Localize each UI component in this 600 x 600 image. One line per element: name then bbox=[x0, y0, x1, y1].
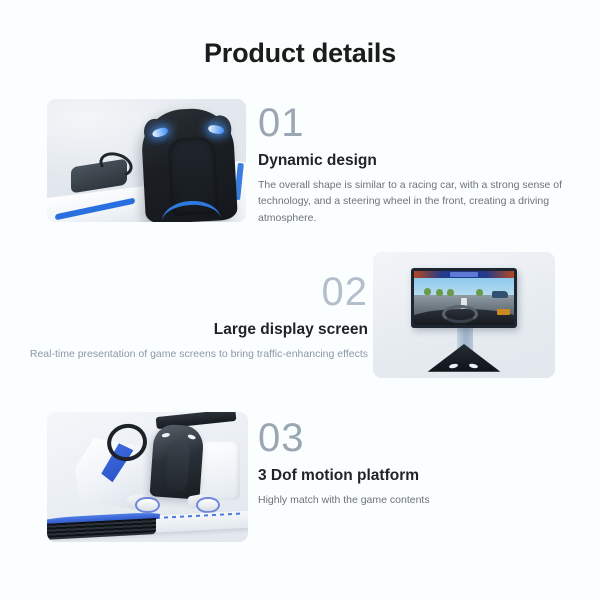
seat-led-right bbox=[187, 433, 196, 439]
motion-actuator bbox=[196, 497, 220, 514]
game-hud-right bbox=[497, 309, 510, 315]
section-1-text: 01 Dynamic design The overall shape is s… bbox=[258, 103, 578, 226]
section-1-heading: Dynamic design bbox=[258, 152, 578, 170]
page-title: Product details bbox=[0, 38, 600, 69]
section-3-heading: 3 Dof motion platform bbox=[258, 467, 578, 485]
section-3-body: Highly match with the game contents bbox=[258, 492, 578, 508]
section-3-number: 03 bbox=[258, 418, 578, 458]
game-steering-wheel bbox=[442, 305, 478, 323]
product-details-page: Product details 01 Dynamic design The ov… bbox=[0, 0, 600, 600]
section-1-body: The overall shape is similar to a racing… bbox=[258, 177, 578, 226]
game-tree bbox=[476, 289, 483, 296]
racing-seat-shape bbox=[149, 423, 204, 499]
product-image-large-display-screen bbox=[373, 252, 555, 378]
game-tree bbox=[447, 289, 454, 296]
game-opponent-car bbox=[492, 291, 508, 298]
game-tree bbox=[436, 289, 443, 296]
monitor-screen bbox=[414, 271, 514, 324]
motion-actuator bbox=[135, 497, 159, 514]
section-2-text: 02 Large display screen Real-time presen… bbox=[10, 272, 368, 362]
section-2-heading: Large display screen bbox=[10, 321, 368, 339]
section-2-number: 02 bbox=[10, 272, 368, 312]
seat-backrest-panel bbox=[165, 440, 191, 491]
product-image-motion-platform bbox=[47, 412, 248, 542]
section-2-body: Real-time presentation of game screens t… bbox=[10, 346, 368, 362]
seat-led-left bbox=[161, 432, 170, 437]
game-hud-label bbox=[450, 272, 478, 276]
product-image-dynamic-design bbox=[47, 99, 246, 222]
monitor-bezel bbox=[411, 268, 517, 327]
section-3-text: 03 3 Dof motion platform Highly match wi… bbox=[258, 418, 578, 508]
racing-seat-shape bbox=[140, 107, 237, 222]
section-1-number: 01 bbox=[258, 103, 578, 143]
game-tree bbox=[424, 288, 431, 295]
